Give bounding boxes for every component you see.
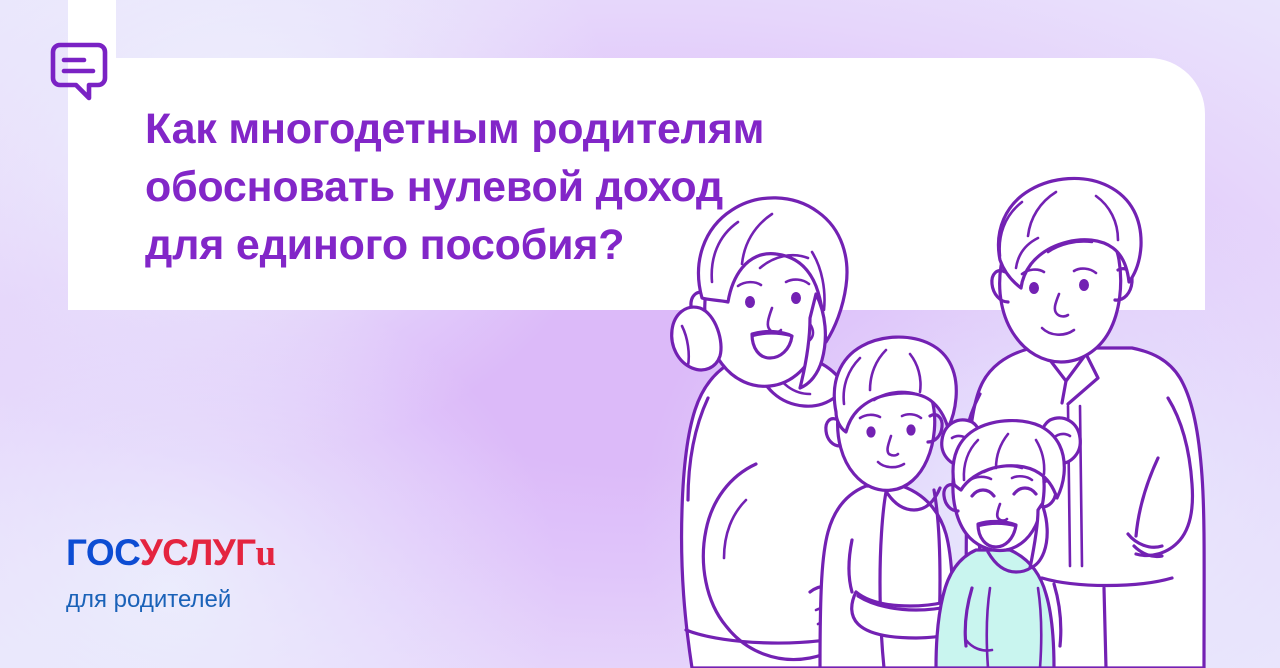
logo-text-gos: ГОС: [66, 532, 140, 573]
logo-subtitle: для родителей: [66, 587, 275, 613]
headline-line-2: обосновать нулевой доход: [145, 158, 965, 216]
speech-bubble-icon: [47, 40, 111, 104]
page-title: Как многодетным родителям обосновать нул…: [145, 100, 965, 274]
gosuslugi-logo[interactable]: ГОСУСЛУГu для родителей: [66, 533, 275, 613]
headline-line-3: для единого пособия?: [145, 216, 965, 274]
banner-root: Как многодетным родителям обосновать нул…: [0, 0, 1280, 668]
logo-text-u: u: [255, 533, 275, 574]
headline-line-1: Как многодетным родителям: [145, 100, 965, 158]
logo-text-uslugi: УСЛУГ: [140, 532, 256, 573]
logo-wordmark: ГОСУСЛУГu: [66, 533, 275, 574]
